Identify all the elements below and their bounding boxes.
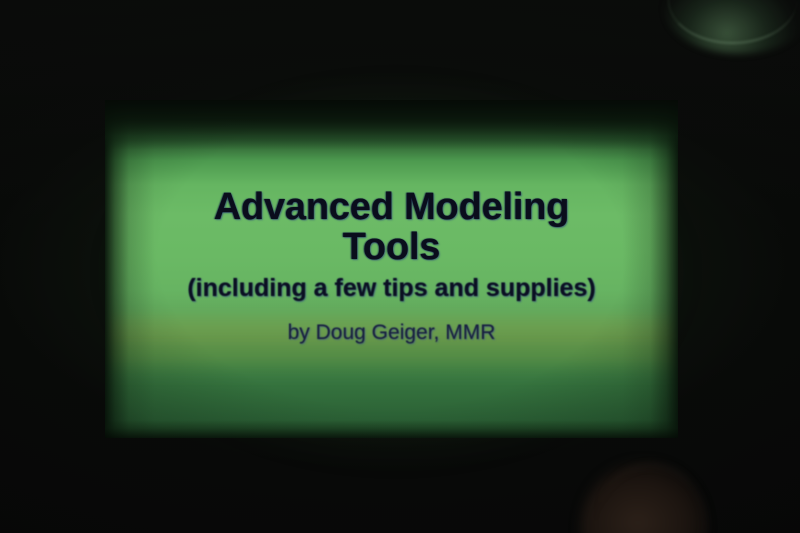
ceiling-light-rim (668, 0, 797, 44)
slide-subtitle: (including a few tips and supplies) (187, 275, 595, 303)
audience-head-rim-light (596, 464, 706, 533)
projected-slide-photo: Advanced Modeling Tools (including a few… (0, 0, 800, 533)
ceiling-light-icon (664, 0, 800, 54)
slide-byline: by Doug Geiger, MMR (288, 321, 496, 344)
audience-head-silhouette (580, 462, 706, 533)
projection-screen: Advanced Modeling Tools (including a few… (105, 100, 678, 438)
slide-title-line-1: Advanced Modeling (214, 186, 570, 228)
slide-content: Advanced Modeling Tools (including a few… (105, 100, 678, 438)
slide-title: Advanced Modeling Tools (214, 188, 570, 267)
slide-title-line-2: Tools (343, 226, 441, 268)
